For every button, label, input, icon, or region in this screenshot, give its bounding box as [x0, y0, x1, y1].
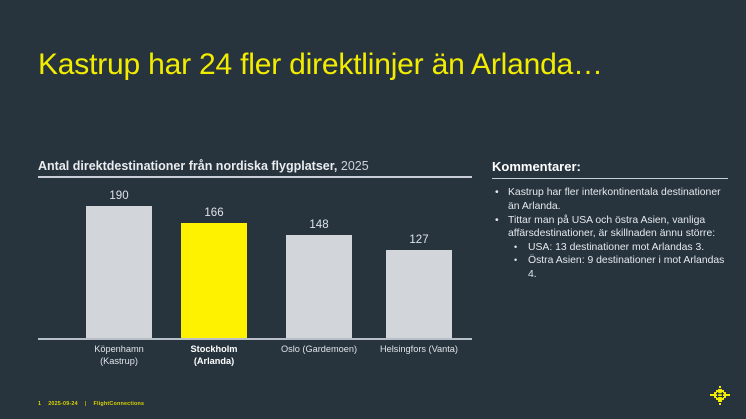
bullet-icon: • [514, 254, 517, 267]
comments-underline [492, 178, 728, 179]
comment-subtext: USA: 13 destinationer mot Arlandas 3. [528, 242, 704, 253]
bullet-icon: • [495, 186, 499, 199]
bar-value-label: 127 [386, 233, 452, 247]
chart-title-year: 2025 [337, 159, 368, 173]
bar-3[interactable] [386, 250, 452, 338]
comment-text: Kastrup har fler interkontinentala desti… [508, 187, 721, 211]
bar-value-label: 166 [181, 206, 247, 220]
comment-sublist: •USA: 13 destinationer mot Arlandas 3.•Ö… [508, 241, 728, 281]
chart-title: Antal direktdestinationer från nordiska … [38, 158, 472, 178]
x-axis-line [38, 338, 472, 340]
category-label-line: Oslo (Gardemoen) [264, 344, 374, 356]
bullet-icon: • [514, 241, 517, 254]
bar-slot: 148 [286, 180, 352, 338]
category-label-line: Stockholm [174, 344, 254, 356]
category-label-line: (Arlanda) [174, 356, 254, 368]
bar-value-label: 190 [86, 189, 152, 203]
category-label: Stockholm(Arlanda) [174, 344, 254, 367]
page-title: Kastrup har 24 fler direktlinjer än Arla… [38, 46, 678, 84]
bar-1[interactable] [181, 223, 247, 338]
chart-title-main: Antal direktdestinationer från nordiska … [38, 159, 337, 173]
footer-date: 2025-09-24 [48, 400, 78, 408]
category-label: Köpenhamn(Kastrup) [79, 344, 159, 367]
comment-subitem: •Östra Asien: 9 destinationer i mot Arla… [508, 254, 728, 280]
bar-chart-plot: 190166148127 [38, 180, 472, 340]
comment-text: Tittar man på USA och östra Asien, vanli… [508, 215, 715, 239]
comments-panel: Kommentarer: •Kastrup har fler interkont… [492, 158, 728, 282]
comment-subtext: Östra Asien: 9 destinationer i mot Arlan… [528, 255, 724, 279]
category-label-line: Helsingfors (Vanta) [364, 344, 474, 356]
category-label: Helsingfors (Vanta) [364, 344, 474, 356]
footer-separator: | [85, 400, 87, 408]
bar-0[interactable] [86, 206, 152, 338]
footer-page-number: 1 [38, 400, 41, 408]
slide: Kastrup har 24 fler direktlinjer än Arla… [0, 0, 746, 419]
bar-slot: 190 [86, 180, 152, 338]
bar-2[interactable] [286, 235, 352, 338]
bullet-icon: • [495, 214, 499, 227]
chart-container: Antal direktdestinationer från nordiska … [38, 158, 472, 383]
comment-item: •Kastrup har fler interkontinentala dest… [492, 186, 728, 212]
category-label-line: (Kastrup) [79, 356, 159, 368]
comment-item: •Tittar man på USA och östra Asien, vanl… [492, 214, 728, 281]
footer: 1 2025-09-24 | FlightConnections [38, 400, 144, 408]
comments-list: •Kastrup har fler interkontinentala dest… [492, 186, 728, 280]
chart-title-underline [38, 176, 472, 178]
category-label: Oslo (Gardemoen) [264, 344, 374, 356]
bar-slot: 166 [181, 180, 247, 338]
bar-value-label: 148 [286, 218, 352, 232]
company-emblem-icon [710, 386, 730, 405]
comments-heading: Kommentarer: [492, 158, 728, 178]
category-label-line: Köpenhamn [79, 344, 159, 356]
comment-subitem: •USA: 13 destinationer mot Arlandas 3. [508, 241, 728, 254]
footer-source: FlightConnections [94, 400, 145, 408]
bar-slot: 127 [386, 180, 452, 338]
